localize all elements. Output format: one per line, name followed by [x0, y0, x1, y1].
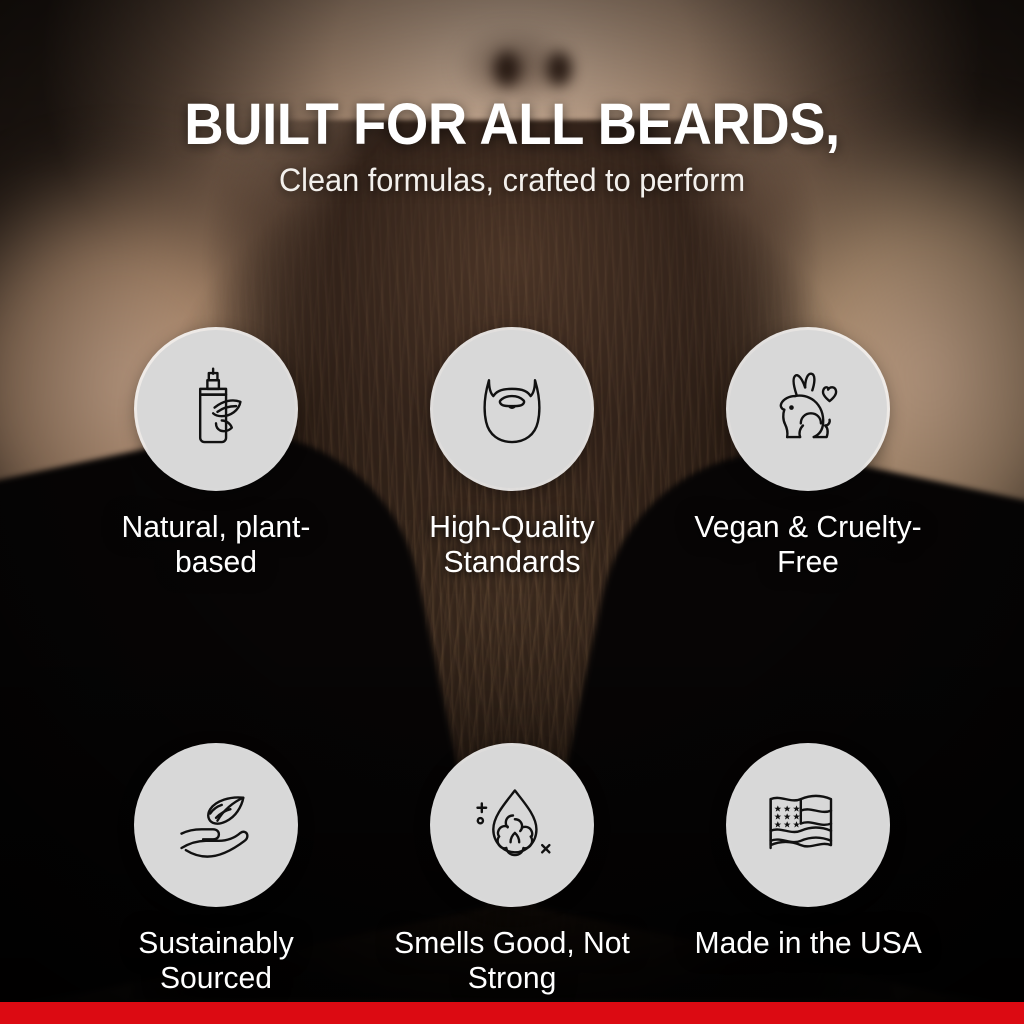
feature-badge — [729, 746, 887, 904]
page-subtitle: Clean formulas, crafted to perform — [20, 163, 1003, 198]
feature-badge — [729, 330, 887, 488]
feature-label: Made in the USA — [694, 926, 921, 961]
feature-grid: Natural, plant-based High-Quality Standa… — [68, 330, 956, 996]
feature-item: Sustainably Sourced — [68, 746, 364, 995]
usa-flag-icon — [762, 779, 854, 871]
beard-icon — [466, 363, 558, 455]
feature-item: Natural, plant-based — [68, 330, 364, 579]
feature-badge — [433, 330, 591, 488]
dropper-bottle-leaf-icon — [170, 363, 262, 455]
feature-label: Smells Good, Not Strong — [391, 926, 634, 995]
feature-badge — [137, 330, 295, 488]
feature-item: Vegan & Cruelty-Free — [660, 330, 956, 579]
droplet-flower-icon — [466, 779, 558, 871]
feature-item: Made in the USA — [660, 746, 956, 995]
feature-label: Natural, plant-based — [95, 510, 338, 579]
poster-content: BUILT FOR ALL BEARDS, Clean formulas, cr… — [0, 0, 1024, 1024]
page-title: BUILT FOR ALL BEARDS, — [31, 96, 994, 154]
promo-poster: BUILT FOR ALL BEARDS, Clean formulas, cr… — [0, 0, 1024, 1024]
feature-badge — [433, 746, 591, 904]
hand-leaf-icon — [170, 779, 262, 871]
rabbit-heart-icon — [762, 363, 854, 455]
footer-accent-bar — [0, 1002, 1024, 1024]
feature-label: Sustainably Sourced — [95, 926, 338, 995]
feature-item: High-Quality Standards — [364, 330, 660, 579]
feature-label: High-Quality Standards — [391, 510, 634, 579]
feature-badge — [137, 746, 295, 904]
feature-item: Smells Good, Not Strong — [364, 746, 660, 995]
feature-label: Vegan & Cruelty-Free — [687, 510, 930, 579]
